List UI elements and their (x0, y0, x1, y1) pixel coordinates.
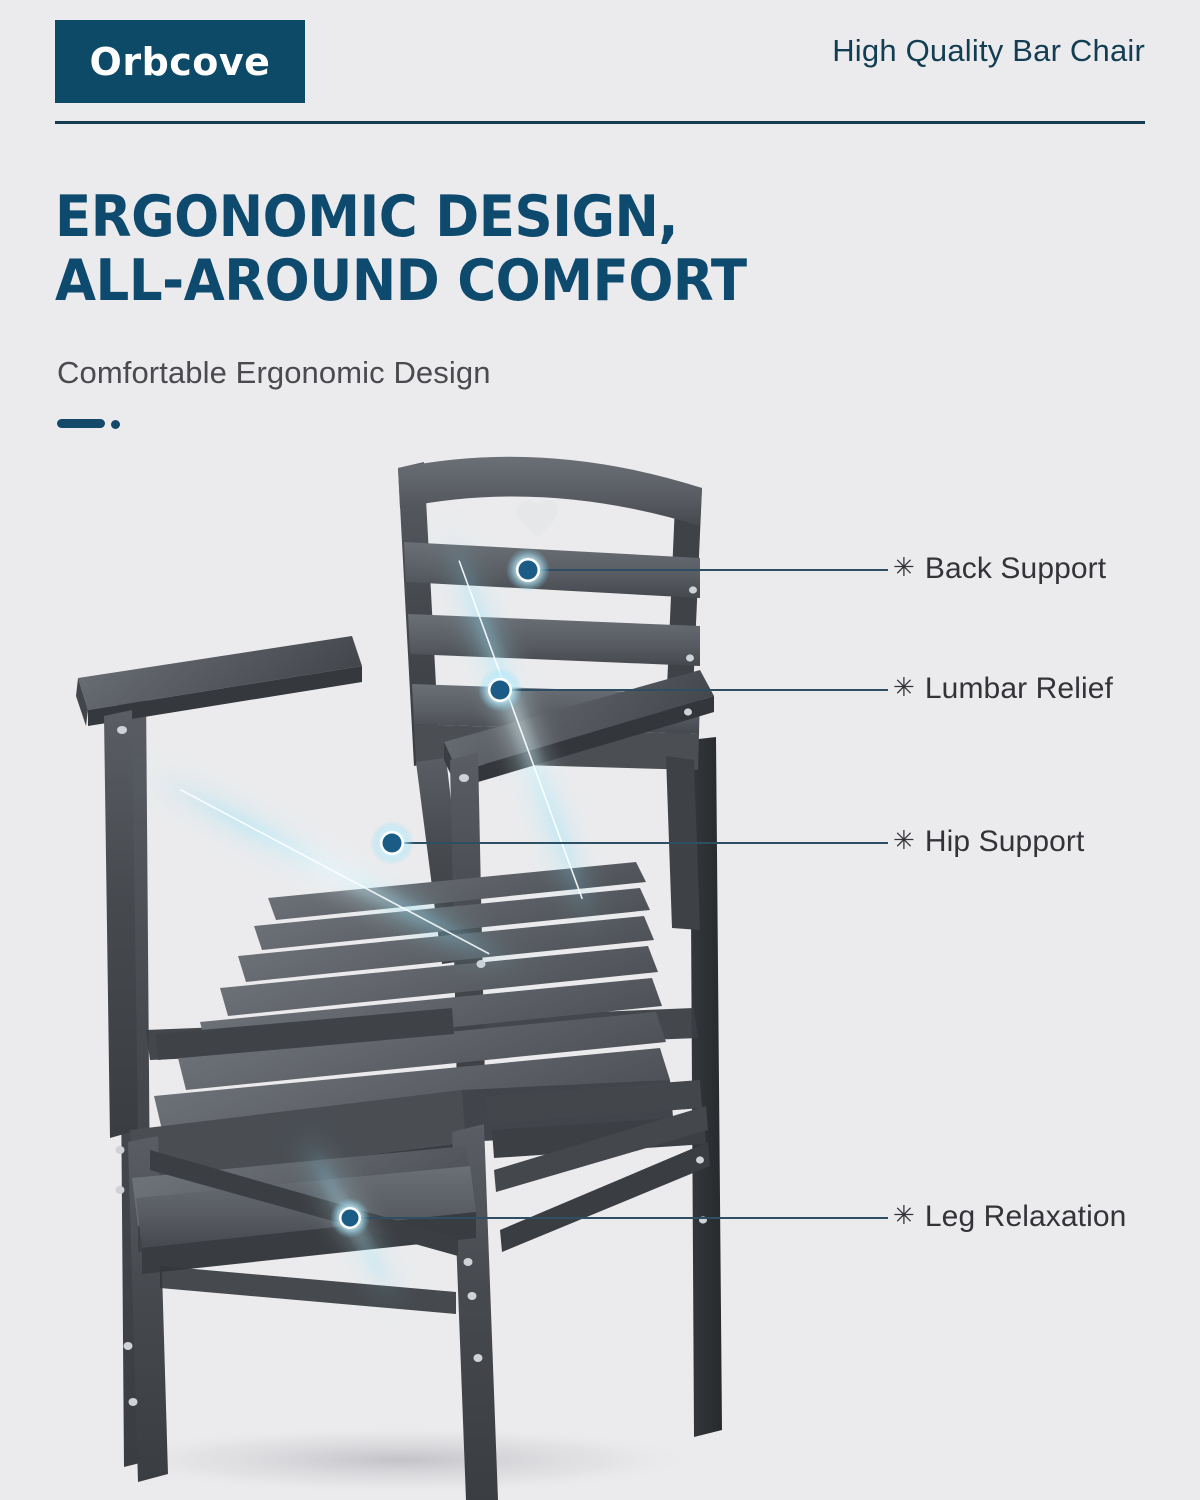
header-title: High Quality Bar Chair (832, 33, 1145, 69)
armrest-left-post (104, 710, 138, 1138)
headline-line-1: ERGONOMIC DESIGN, (55, 185, 892, 249)
callout-label-leg-relaxation: ✳Leg Relaxation (893, 1200, 1126, 1234)
brand-logo: Orbcove (55, 20, 305, 103)
asterisk-icon: ✳ (893, 825, 915, 856)
page-title: ERGONOMIC DESIGN, ALL-AROUND COMFORT (55, 185, 892, 314)
callout-text: Lumbar Relief (925, 672, 1113, 705)
callout-label-hip-support: ✳Hip Support (893, 825, 1084, 859)
infographic-page: Orbcove High Quality Bar Chair ERGONOMIC… (0, 0, 1200, 1500)
accent-bar (57, 419, 105, 428)
rear-cross-rail (160, 1266, 456, 1314)
headline-line-2: ALL-AROUND COMFORT (55, 249, 892, 313)
backrest-slat-2 (408, 614, 700, 666)
brand-logo-text: Orbcove (90, 40, 271, 84)
header-divider (55, 121, 1145, 124)
product-chair (76, 457, 722, 1500)
callout-text: Leg Relaxation (925, 1200, 1127, 1233)
heart-cutout (517, 500, 558, 537)
callout-text: Back Support (925, 552, 1106, 585)
product-scene (0, 430, 1200, 1500)
callout-label-lumbar-relief: ✳Lumbar Relief (893, 672, 1113, 706)
accent-dot (111, 420, 120, 429)
asterisk-icon: ✳ (893, 1200, 915, 1231)
callout-text: Hip Support (925, 825, 1085, 858)
subtitle: Comfortable Ergonomic Design (57, 355, 491, 391)
asterisk-icon: ✳ (893, 552, 915, 583)
callout-label-back-support: ✳Back Support (893, 552, 1106, 586)
asterisk-icon: ✳ (893, 672, 915, 703)
page-header: Orbcove High Quality Bar Chair (0, 0, 1200, 130)
floor-shadow (100, 1426, 700, 1494)
